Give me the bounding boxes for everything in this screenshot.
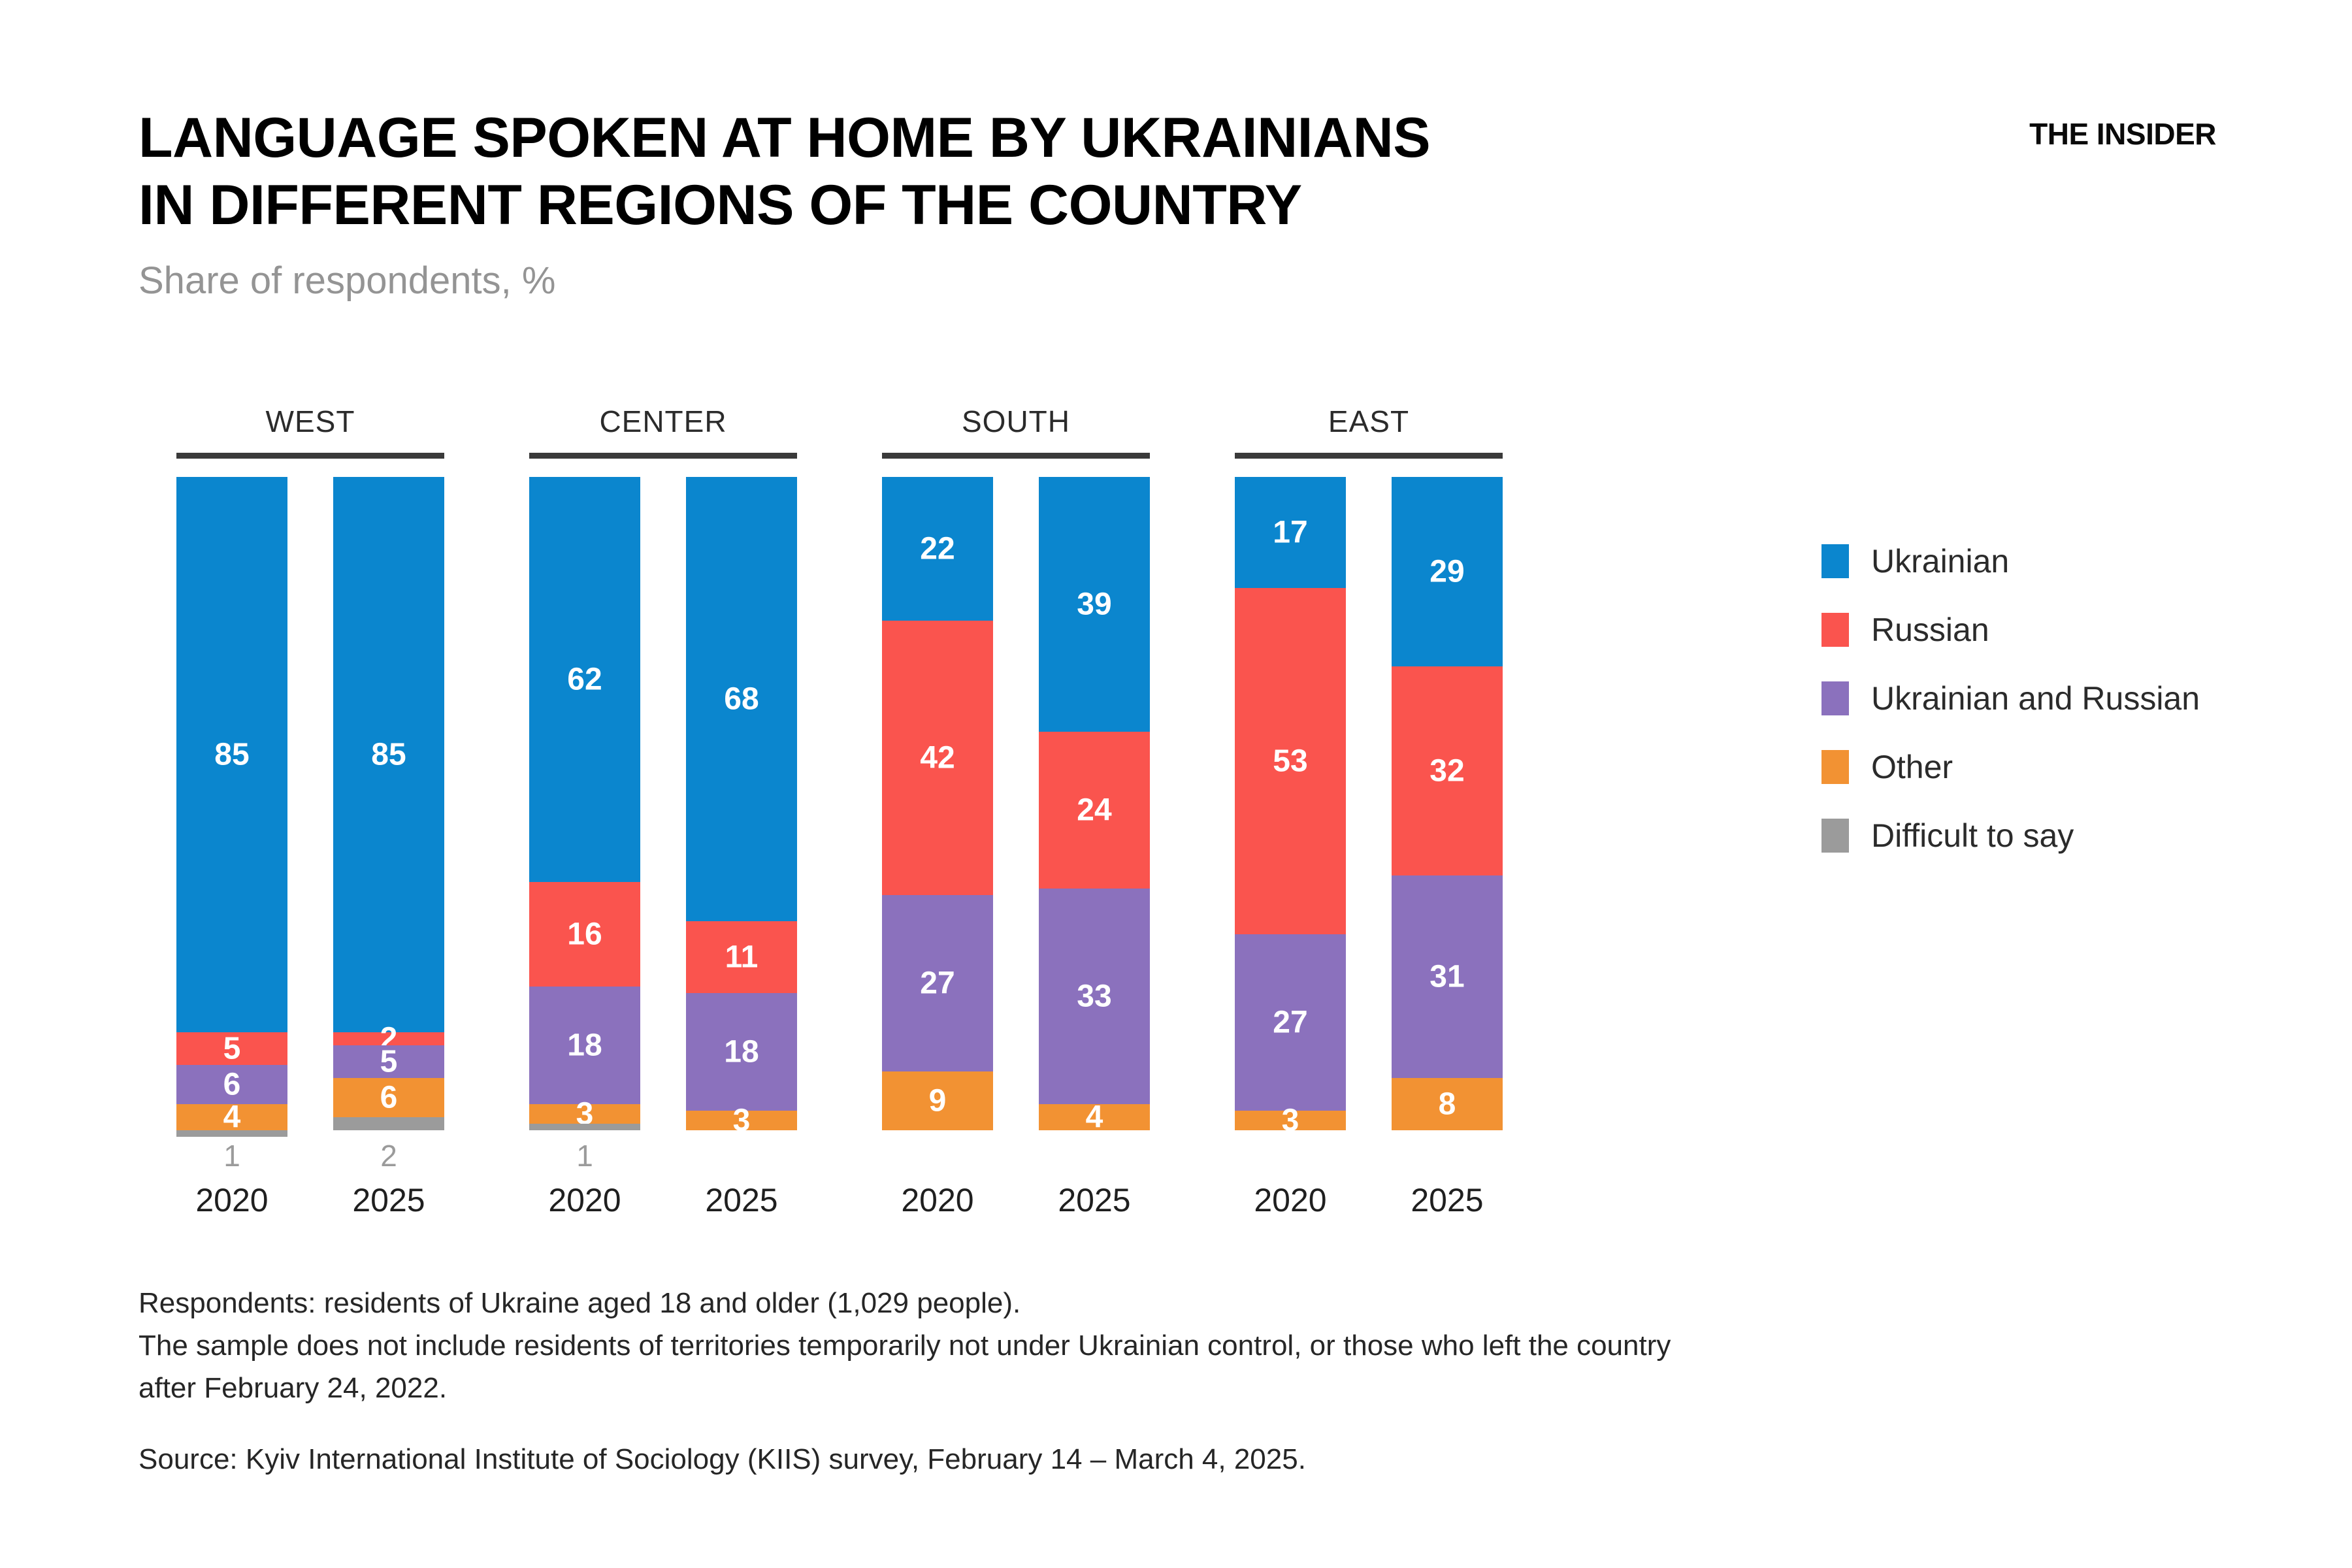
segment-value-label: 17 — [1235, 515, 1346, 551]
difficult-to-say-value-label: 1 — [529, 1138, 640, 1173]
bar-segment-ukrainian[interactable]: 62 — [529, 477, 640, 882]
segment-value-label: 18 — [686, 1034, 797, 1070]
segment-value-label: 27 — [882, 966, 993, 1002]
chart-header: LANGUAGE SPOKEN AT HOME BY UKRAINIANS IN… — [139, 105, 2216, 301]
segment-value-label: 6 — [333, 1080, 444, 1116]
bar-center-2025[interactable]: 6811183 — [686, 477, 797, 1130]
group-rule-west — [176, 453, 444, 459]
difficult-to-say-value-label: 1 — [176, 1138, 287, 1173]
x-tick-label-south-2025: 2025 — [1039, 1181, 1150, 1219]
brand-logo: THE INSIDER — [2029, 116, 2216, 152]
chart-legend: UkrainianRussianUkrainian and RussianOth… — [1821, 542, 2200, 885]
segment-value-label: 85 — [176, 737, 287, 773]
x-tick-label-south-2020: 2020 — [882, 1181, 993, 1219]
bar-segment-ukrainian[interactable]: 39 — [1039, 477, 1150, 732]
bar-segment-other[interactable]: 3 — [529, 1104, 640, 1124]
bar-segment-ukrainian-and-russian[interactable]: 5 — [333, 1045, 444, 1078]
bar-segment-russian[interactable]: 5 — [176, 1032, 287, 1065]
x-tick-label-west-2020: 2020 — [176, 1181, 287, 1219]
bar-segment-difficult-to-say[interactable] — [176, 1130, 287, 1137]
chart-subtitle: Share of respondents, % — [139, 259, 2216, 302]
bar-south-2025[interactable]: 3924334 — [1039, 477, 1150, 1130]
group-rule-east — [1235, 453, 1503, 459]
bar-segment-ukrainian-and-russian[interactable]: 18 — [686, 993, 797, 1111]
group-rule-center — [529, 453, 797, 459]
bar-segment-other[interactable]: 4 — [176, 1104, 287, 1130]
segment-value-label: 27 — [1235, 1005, 1346, 1041]
bar-segment-ukrainian-and-russian[interactable]: 33 — [1039, 889, 1150, 1104]
legend-label: Difficult to say — [1871, 817, 2074, 855]
bar-segment-ukrainian[interactable]: 22 — [882, 477, 993, 621]
x-tick-label-center-2020: 2020 — [529, 1181, 640, 1219]
group-rule-south — [882, 453, 1150, 459]
legend-swatch-icon — [1821, 544, 1849, 578]
bar-segment-ukrainian[interactable]: 68 — [686, 477, 797, 921]
segment-value-label: 9 — [882, 1083, 993, 1119]
source-note: Source: Kyiv International Institute of … — [139, 1443, 2164, 1476]
segment-value-label: 3 — [686, 1103, 797, 1139]
legend-item-ukrainian[interactable]: Ukrainian — [1821, 542, 2200, 580]
bar-segment-difficult-to-say[interactable] — [529, 1124, 640, 1130]
segment-value-label: 29 — [1392, 554, 1503, 590]
segment-value-label: 62 — [529, 662, 640, 698]
x-tick-label-center-2025: 2025 — [686, 1181, 797, 1219]
segment-value-label: 5 — [176, 1031, 287, 1067]
segment-value-label: 24 — [1039, 792, 1150, 828]
bar-east-2025[interactable]: 2932318 — [1392, 477, 1503, 1130]
segment-value-label: 3 — [1235, 1103, 1346, 1139]
segment-value-label: 31 — [1392, 959, 1503, 995]
segment-value-label: 11 — [686, 939, 797, 975]
segment-value-label: 33 — [1039, 979, 1150, 1015]
group-label-west: WEST — [176, 404, 444, 439]
bar-segment-russian[interactable]: 16 — [529, 882, 640, 987]
segment-value-label: 53 — [1235, 743, 1346, 779]
x-tick-label-east-2025: 2025 — [1392, 1181, 1503, 1219]
bar-segment-ukrainian-and-russian[interactable]: 18 — [529, 987, 640, 1104]
legend-item-ukrainian-and-russian[interactable]: Ukrainian and Russian — [1821, 679, 2200, 717]
bar-segment-other[interactable]: 4 — [1039, 1104, 1150, 1130]
bar-center-2020[interactable]: 6216183 — [529, 477, 640, 1130]
bar-segment-ukrainian-and-russian[interactable]: 31 — [1392, 875, 1503, 1078]
legend-label: Other — [1871, 748, 1953, 786]
segment-value-label: 5 — [333, 1044, 444, 1080]
bar-east-2020[interactable]: 1753273 — [1235, 477, 1346, 1130]
respondents-note-line-1: Respondents: residents of Ukraine aged 1… — [139, 1282, 2164, 1324]
legend-label: Russian — [1871, 611, 1989, 649]
segment-value-label: 4 — [1039, 1100, 1150, 1135]
legend-label: Ukrainian — [1871, 542, 2009, 580]
bar-segment-other[interactable]: 6 — [333, 1078, 444, 1117]
legend-swatch-icon — [1821, 681, 1849, 715]
legend-swatch-icon — [1821, 613, 1849, 647]
bar-segment-russian[interactable]: 42 — [882, 621, 993, 895]
bar-segment-russian[interactable]: 24 — [1039, 732, 1150, 889]
bar-segment-ukrainian[interactable]: 29 — [1392, 477, 1503, 666]
segment-value-label: 16 — [529, 917, 640, 953]
group-label-center: CENTER — [529, 404, 797, 439]
bar-segment-other[interactable]: 9 — [882, 1071, 993, 1130]
bar-segment-ukrainian[interactable]: 17 — [1235, 477, 1346, 588]
bar-segment-other[interactable]: 8 — [1392, 1078, 1503, 1130]
bar-segment-ukrainian[interactable]: 85 — [176, 477, 287, 1032]
segment-value-label: 6 — [176, 1067, 287, 1103]
respondents-note-line-2: The sample does not include residents of… — [139, 1324, 2164, 1367]
x-tick-label-east-2020: 2020 — [1235, 1181, 1346, 1219]
chart-footer: Respondents: residents of Ukraine aged 1… — [139, 1282, 2164, 1476]
bar-segment-difficult-to-say[interactable] — [333, 1117, 444, 1130]
segment-value-label: 18 — [529, 1028, 640, 1064]
legend-swatch-icon — [1821, 819, 1849, 853]
bar-west-2025[interactable]: 85256 — [333, 477, 444, 1130]
segment-value-label: 85 — [333, 737, 444, 773]
bar-segment-russian[interactable]: 32 — [1392, 666, 1503, 875]
x-tick-label-west-2025: 2025 — [333, 1181, 444, 1219]
bar-segment-other[interactable]: 3 — [1235, 1111, 1346, 1130]
bar-segment-russian[interactable]: 11 — [686, 921, 797, 993]
bar-segment-ukrainian[interactable]: 85 — [333, 477, 444, 1032]
bar-south-2020[interactable]: 2242279 — [882, 477, 993, 1130]
legend-item-difficult-to-say[interactable]: Difficult to say — [1821, 817, 2200, 855]
segment-value-label: 68 — [686, 681, 797, 717]
bar-west-2020[interactable]: 85564 — [176, 477, 287, 1137]
legend-label: Ukrainian and Russian — [1871, 679, 2200, 717]
group-label-east: EAST — [1235, 404, 1503, 439]
legend-item-other[interactable]: Other — [1821, 748, 2200, 786]
bar-segment-ukrainian-and-russian[interactable]: 27 — [1235, 934, 1346, 1111]
bar-group-west: WEST85564120208525622025 — [176, 0, 444, 1307]
bar-segment-ukrainian-and-russian[interactable]: 27 — [882, 895, 993, 1071]
bar-group-center: CENTER62161831202068111832025 — [529, 0, 797, 1307]
group-label-south: SOUTH — [882, 404, 1150, 439]
segment-value-label: 32 — [1392, 753, 1503, 789]
legend-item-russian[interactable]: Russian — [1821, 611, 2200, 649]
bar-group-east: EAST1753273202029323182025 — [1235, 0, 1503, 1307]
segment-value-label: 22 — [882, 531, 993, 567]
bar-segment-ukrainian-and-russian[interactable]: 6 — [176, 1065, 287, 1104]
bar-segment-other[interactable]: 3 — [686, 1111, 797, 1130]
segment-value-label: 8 — [1392, 1086, 1503, 1122]
segment-value-label: 42 — [882, 740, 993, 776]
respondents-note-line-3: after February 24, 2022. — [139, 1367, 2164, 1409]
bar-segment-russian[interactable]: 53 — [1235, 588, 1346, 934]
difficult-to-say-value-label: 2 — [333, 1138, 444, 1173]
segment-value-label: 39 — [1039, 587, 1150, 623]
bar-group-south: SOUTH2242279202039243342025 — [882, 0, 1150, 1307]
legend-swatch-icon — [1821, 750, 1849, 784]
